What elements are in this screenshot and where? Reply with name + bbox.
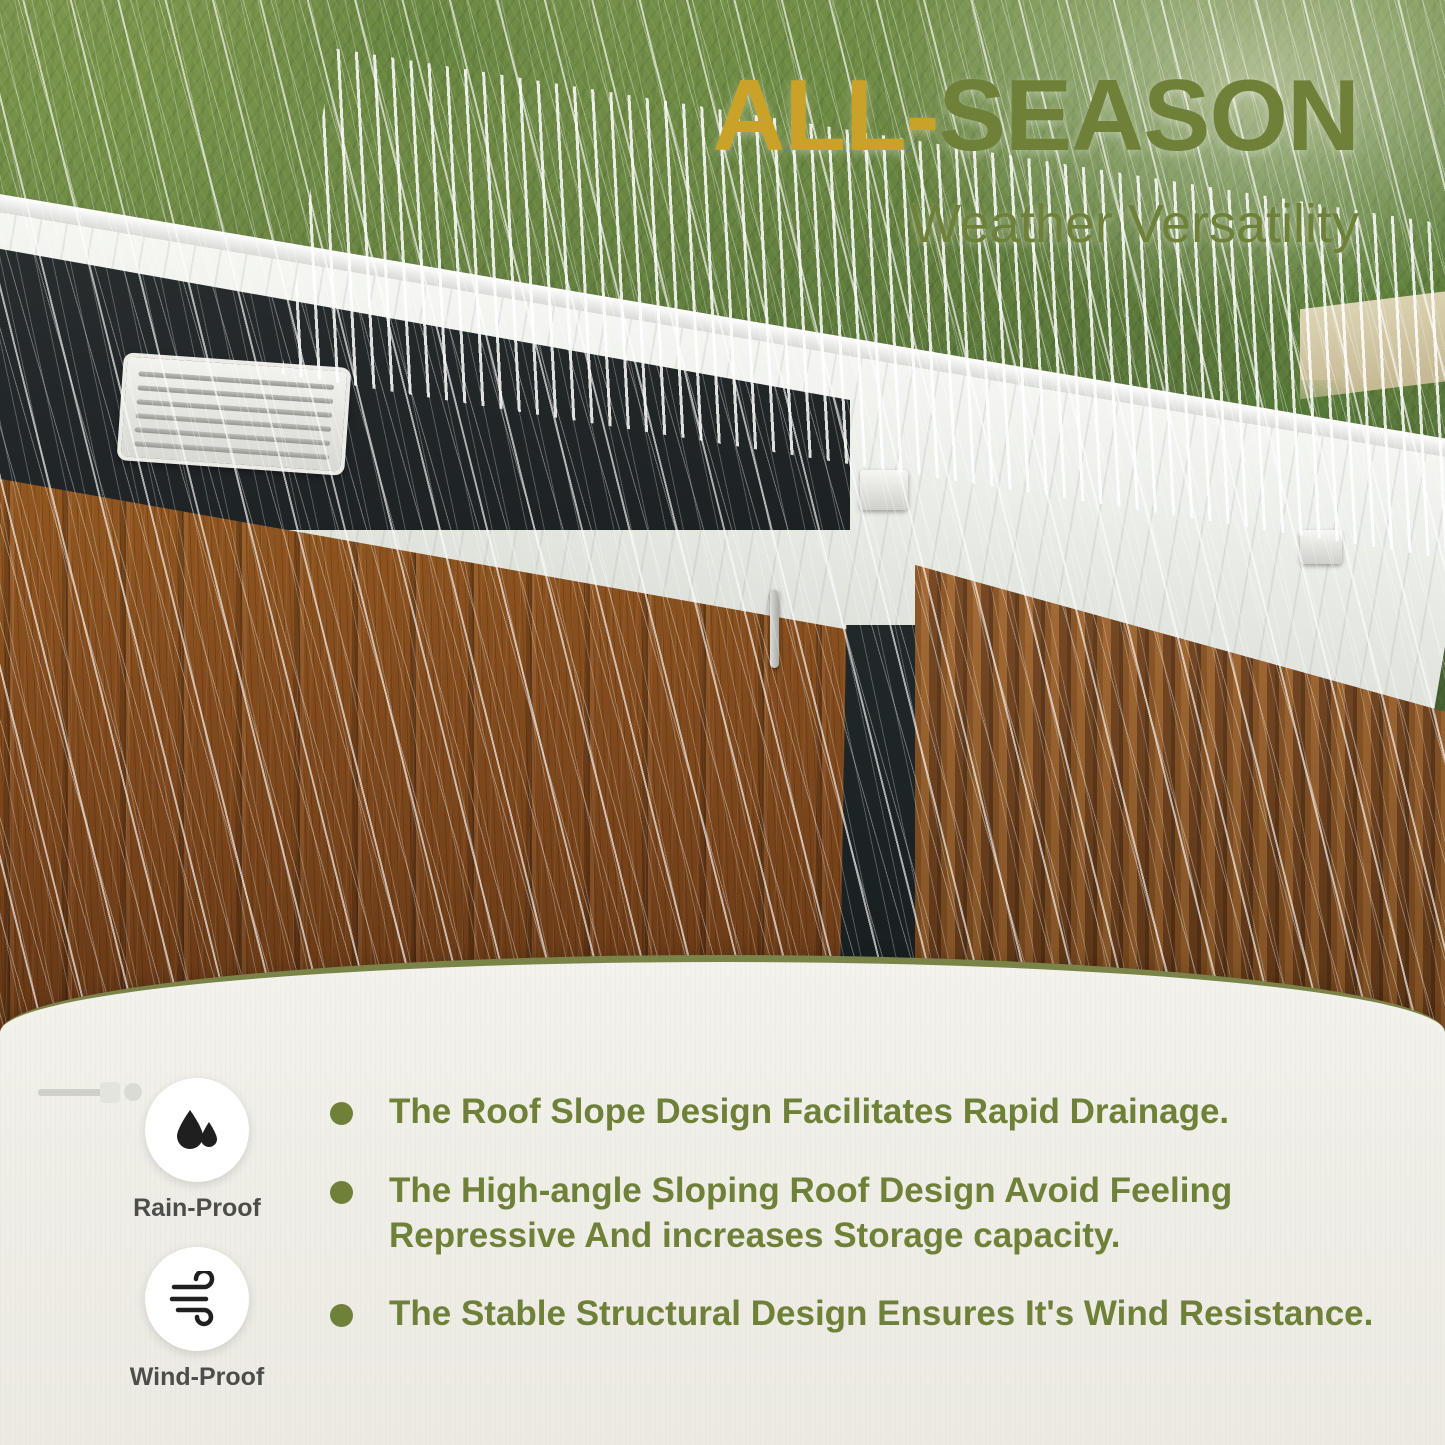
list-item: The High-angle Sloping Roof Design Avoid… [330,1169,1390,1259]
badge-icon-wrapper [145,1247,249,1351]
bullet-text: The Stable Structural Design Ensures It'… [389,1292,1373,1337]
feature-bullet-list: The Roof Slope Design Facilitates Rapid … [330,1090,1390,1371]
shed-door-handle [770,590,779,668]
badge-rain-proof: Rain-Proof [92,1078,302,1223]
shed-fascia-bracket-right [1300,530,1342,564]
wind-icon [166,1271,228,1327]
badge-icon-wrapper [145,1078,249,1182]
roof-vent-louver [117,352,352,476]
bullet-text: The High-angle Sloping Roof Design Avoid… [389,1169,1390,1259]
headline-block: ALL-SEASON Weather Versatility [712,66,1359,251]
marketing-image: ALL-SEASON Weather Versatility Rain-Proo… [0,0,1445,1445]
product-photo: ALL-SEASON Weather Versatility [0,0,1445,1060]
headline-part2: SEASON [938,60,1359,172]
headline-subtitle: Weather Versatility [712,197,1359,251]
bullet-dot-icon [330,1102,353,1125]
headline-part1: ALL- [712,60,938,172]
bullet-dot-icon [330,1304,353,1327]
badge-label: Rain-Proof [133,1194,261,1223]
bullet-dot-icon [330,1181,353,1204]
shed-fascia-bracket [860,470,908,510]
list-item: The Stable Structural Design Ensures It'… [330,1292,1390,1337]
page-title: ALL-SEASON [712,66,1359,167]
badge-wind-proof: Wind-Proof [92,1247,302,1392]
badge-label: Wind-Proof [130,1363,264,1392]
garden-shed [0,170,1445,1060]
bullet-text: The Roof Slope Design Facilitates Rapid … [389,1090,1229,1135]
badge-list: Rain-Proof Wind-Proof [92,1078,302,1416]
water-drop-icon [167,1100,227,1160]
list-item: The Roof Slope Design Facilitates Rapid … [330,1090,1390,1135]
